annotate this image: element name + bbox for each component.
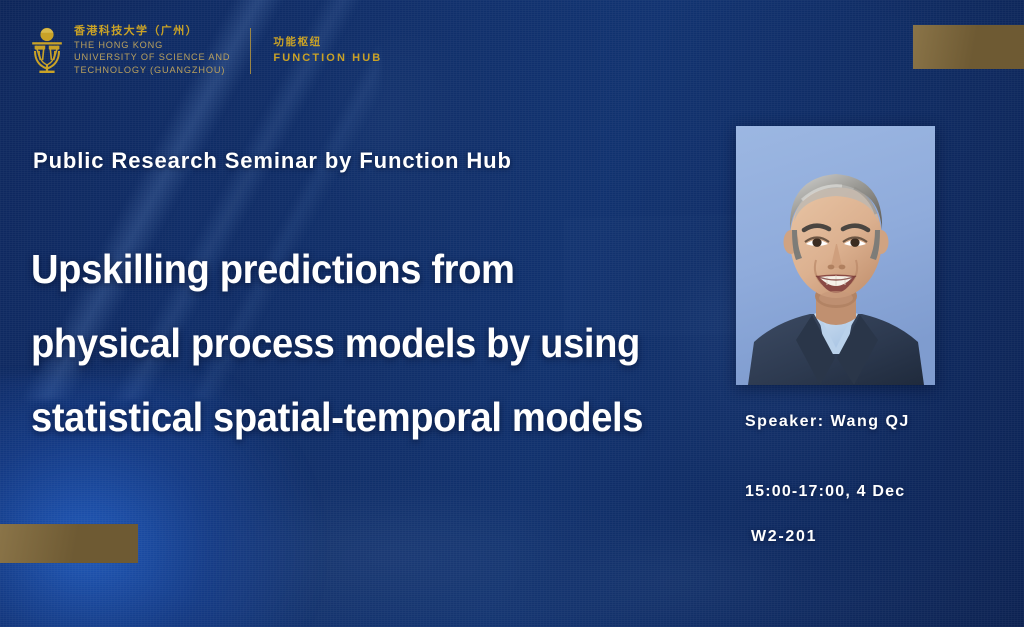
title-line-1: Upskilling predictions from bbox=[31, 232, 682, 306]
logo-lockup: 香港科技大学（广州） THE HONG KONG UNIVERSITY OF S… bbox=[30, 26, 382, 75]
function-hub-name-zh: 功能枢纽 bbox=[273, 37, 382, 48]
hkust-gz-emblem-icon bbox=[30, 27, 64, 75]
eyebrow-text: Public Research Seminar by Function Hub bbox=[33, 148, 512, 174]
speaker-name: Speaker: Wang QJ bbox=[745, 413, 910, 431]
function-hub-name-en: FUNCTION HUB bbox=[273, 53, 382, 64]
speaker-portrait-photo bbox=[736, 126, 935, 385]
function-hub-name-block: 功能枢纽 FUNCTION HUB bbox=[273, 37, 382, 65]
title-line-3: statistical spatial-temporal models bbox=[31, 380, 682, 454]
page-title: Upskilling predictions from physical pro… bbox=[31, 232, 731, 454]
seminar-time: 15:00-17:00, 4 Dec bbox=[745, 483, 910, 501]
title-line-2: physical process models by using bbox=[31, 306, 682, 380]
seminar-poster: 香港科技大学（广州） THE HONG KONG UNIVERSITY OF S… bbox=[0, 0, 1024, 627]
university-name-en-line-3: TECHNOLOGY (GUANGZHOU) bbox=[74, 66, 230, 75]
speaker-details: Speaker: Wang QJ 15:00-17:00, 4 Dec W2-2… bbox=[745, 413, 910, 546]
logo-divider bbox=[250, 28, 251, 74]
university-name-en-line-1: THE HONG KONG bbox=[74, 41, 230, 50]
speaker-portrait bbox=[736, 126, 935, 385]
gold-accent-bar-top-right bbox=[913, 25, 1024, 69]
university-name-zh: 香港科技大学（广州） bbox=[74, 26, 230, 37]
university-name-en-line-2: UNIVERSITY OF SCIENCE AND bbox=[74, 53, 230, 62]
university-name-block: 香港科技大学（广州） THE HONG KONG UNIVERSITY OF S… bbox=[74, 26, 230, 75]
seminar-venue: W2-201 bbox=[751, 528, 910, 546]
gold-accent-bar-bottom-left bbox=[0, 524, 138, 563]
